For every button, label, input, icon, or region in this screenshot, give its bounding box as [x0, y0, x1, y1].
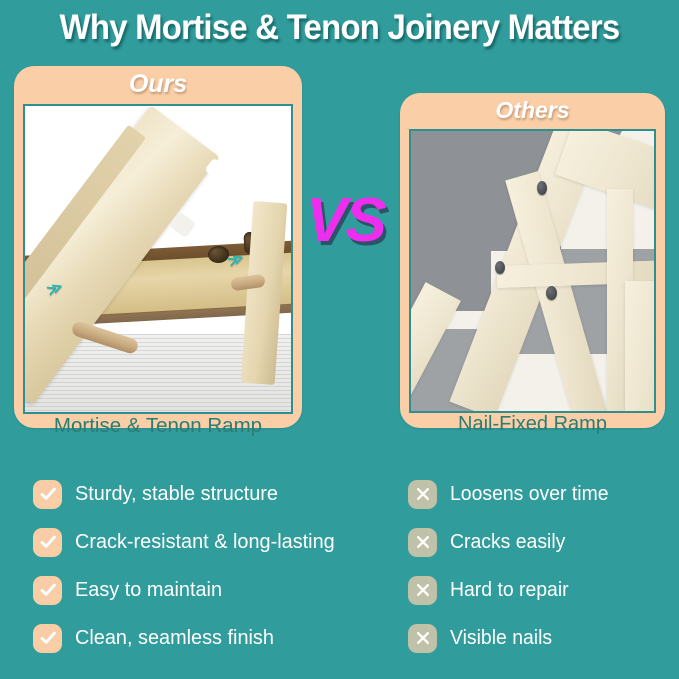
list-item: Clean, seamless finish	[33, 614, 393, 662]
comparison-card-ours: Ours ≫	[14, 66, 302, 428]
cross-icon	[408, 480, 437, 509]
list-item: Cracks easily	[408, 518, 673, 566]
pros-list: Sturdy, stable structure Crack-resistant…	[33, 470, 393, 662]
list-item-label: Clean, seamless finish	[75, 626, 274, 650]
nail-head	[537, 181, 547, 195]
card-header-ours: Ours	[14, 66, 302, 102]
list-item: Easy to maintain	[33, 566, 393, 614]
nail-fixed-ramp-photo	[409, 129, 656, 413]
check-icon	[33, 576, 62, 605]
mortise-tenon-ramp-photo: ≫ ≫	[23, 104, 293, 414]
list-item: Sturdy, stable structure	[33, 470, 393, 518]
list-item: Hard to repair	[408, 566, 673, 614]
list-item-label: Hard to repair	[450, 579, 569, 602]
nail-head	[495, 261, 505, 274]
list-item: Loosens over time	[408, 470, 673, 518]
infographic-root: Why Mortise & Tenon Joinery Matters Ours	[0, 0, 679, 679]
lower-block	[625, 281, 656, 413]
list-item-label: Sturdy, stable structure	[75, 482, 278, 506]
list-item: Visible nails	[408, 614, 673, 662]
check-icon	[33, 624, 62, 653]
list-item-label: Cracks easily	[450, 531, 565, 554]
list-item-label: Easy to maintain	[75, 578, 222, 602]
check-icon	[33, 528, 62, 557]
comparison-card-others: Others	[400, 93, 665, 428]
nail-head	[546, 286, 557, 300]
list-item-label: Loosens over time	[450, 483, 609, 506]
cross-icon	[408, 576, 437, 605]
versus-badge: VS	[306, 190, 385, 252]
caption-others: Nail-Fixed Ramp	[400, 413, 665, 436]
list-item: Crack-resistant & long-lasting	[33, 518, 393, 566]
page-title: Why Mortise & Tenon Joinery Matters	[20, 8, 658, 48]
beam-notch	[225, 123, 253, 150]
cross-icon	[408, 528, 437, 557]
list-item-label: Crack-resistant & long-lasting	[75, 530, 335, 554]
cons-list: Loosens over time Cracks easily Hard to …	[408, 470, 673, 662]
check-icon	[33, 480, 62, 509]
card-header-others: Others	[400, 93, 665, 127]
caption-ours: Mortise & Tenon Ramp	[14, 414, 302, 438]
list-item-label: Visible nails	[450, 627, 552, 650]
cross-icon	[408, 624, 437, 653]
